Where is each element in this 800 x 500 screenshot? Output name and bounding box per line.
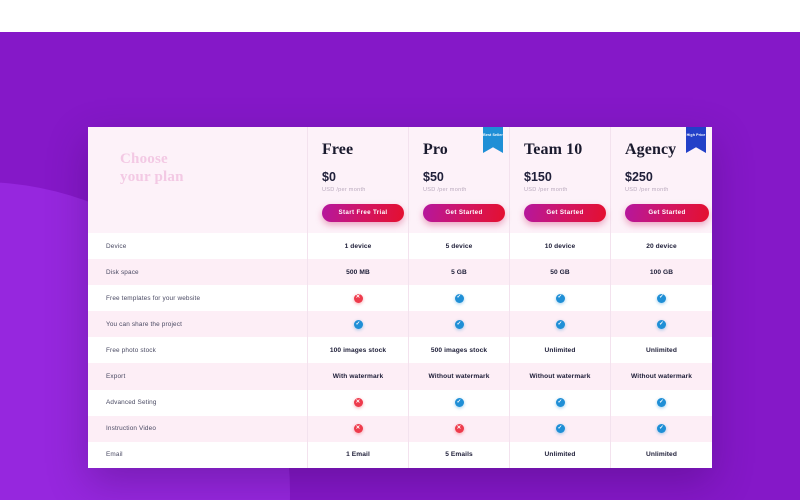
feature-value: 500 MB [308,259,409,285]
feature-value: Unlimited [611,337,712,363]
check-icon: ✓ [556,320,565,329]
feature-label: You can share the project [88,311,308,337]
table-row: Free templates for your website✕✓✓✓ [88,285,712,311]
feature-value: 1 device [308,233,409,259]
feature-value: ✓ [409,390,510,416]
plan-price: $0 [322,171,394,184]
plan-price-unit: USD /per month [423,187,495,193]
table-row: Device1 device5 device10 device20 device [88,233,712,259]
feature-value: ✕ [409,416,510,442]
feature-value: ✓ [308,311,409,337]
plan-header-agency: High Price Agency $250 USD /per month Ge… [611,127,712,233]
get-started-button-team10[interactable]: Get Started [524,204,606,222]
feature-value: 100 GB [611,259,712,285]
feature-value: 5 device [409,233,510,259]
feature-value: ✓ [409,311,510,337]
cross-icon: ✕ [354,424,363,433]
check-icon: ✓ [556,398,565,407]
feature-value: ✓ [611,285,712,311]
table-row: Instruction Video✕✕✓✓ [88,416,712,442]
feature-value: Without watermark [510,363,611,389]
feature-value: ✓ [611,390,712,416]
page-title: Choose your plan [102,141,293,186]
table-row: ExportWith watermarkWithout watermarkWit… [88,363,712,389]
page-title-line1: Choose [120,151,168,167]
pricing-table-header: Choose your plan Free $0 USD /per month … [88,127,712,233]
check-icon: ✓ [657,294,666,303]
plan-price-unit: USD /per month [524,187,596,193]
feature-value: 50 GB [510,259,611,285]
check-icon: ✓ [556,294,565,303]
feature-value: ✕ [308,390,409,416]
feature-label: Device [88,233,308,259]
feature-value: 5 GB [409,259,510,285]
feature-label: Export [88,363,308,389]
feature-value: 100 images stock [308,337,409,363]
table-row: Advanced Seting✕✓✓✓ [88,390,712,416]
table-row: Email1 Email5 EmailsUnlimitedUnlimited [88,442,712,468]
feature-value: With watermark [308,363,409,389]
feature-value: Unlimited [510,442,611,468]
feature-value: ✓ [510,285,611,311]
start-free-trial-button[interactable]: Start Free Trial [322,204,404,222]
feature-label: Advanced Seting [88,390,308,416]
table-row: Disk space500 MB5 GB50 GB100 GB [88,259,712,285]
plan-name: Free [322,141,394,159]
feature-value: Without watermark [611,363,712,389]
feature-value: Without watermark [409,363,510,389]
feature-value: 1 Email [308,442,409,468]
get-started-button-pro[interactable]: Get Started [423,204,505,222]
check-icon: ✓ [455,294,464,303]
pricing-table-card: Choose your plan Free $0 USD /per month … [88,127,712,468]
plan-header-free: Free $0 USD /per month Start Free Trial [308,127,409,233]
get-started-button-agency[interactable]: Get Started [625,204,709,222]
page-title-line2: your plan [120,169,184,185]
plan-price: $50 [423,171,495,184]
check-icon: ✓ [657,424,666,433]
feature-label: Free templates for your website [88,285,308,311]
feature-value: Unlimited [611,442,712,468]
feature-value: ✕ [308,416,409,442]
feature-value: 10 device [510,233,611,259]
cross-icon: ✕ [455,424,464,433]
feature-value: Unlimited [510,337,611,363]
feature-value: ✓ [611,416,712,442]
plan-name: Team 10 [524,141,596,159]
cross-icon: ✕ [354,398,363,407]
feature-value: ✓ [409,285,510,311]
feature-value: 5 Emails [409,442,510,468]
pricing-page: Choose your plan Free $0 USD /per month … [0,0,800,500]
header-title-cell: Choose your plan [88,127,308,233]
feature-value: ✕ [308,285,409,311]
check-icon: ✓ [657,398,666,407]
plan-price: $250 [625,171,698,184]
plan-price-unit: USD /per month [625,187,698,193]
feature-value: 20 device [611,233,712,259]
check-icon: ✓ [657,320,666,329]
feature-label: Free photo stock [88,337,308,363]
table-row: Free photo stock100 images stock500 imag… [88,337,712,363]
feature-value: ✓ [510,311,611,337]
plan-price: $150 [524,171,596,184]
feature-label: Disk space [88,259,308,285]
plan-price-unit: USD /per month [322,187,394,193]
feature-value: 500 images stock [409,337,510,363]
table-row: You can share the project✓✓✓✓ [88,311,712,337]
plan-header-pro: Best Seller Pro $50 USD /per month Get S… [409,127,510,233]
check-icon: ✓ [354,320,363,329]
feature-label: Instruction Video [88,416,308,442]
check-icon: ✓ [455,320,464,329]
feature-value: ✓ [510,390,611,416]
plan-header-team10: Team 10 $150 USD /per month Get Started [510,127,611,233]
feature-value: ✓ [510,416,611,442]
cross-icon: ✕ [354,294,363,303]
check-icon: ✓ [455,398,464,407]
feature-value: ✓ [611,311,712,337]
feature-label: Email [88,442,308,468]
feature-rows: Device1 device5 device10 device20 device… [88,233,712,468]
check-icon: ✓ [556,424,565,433]
